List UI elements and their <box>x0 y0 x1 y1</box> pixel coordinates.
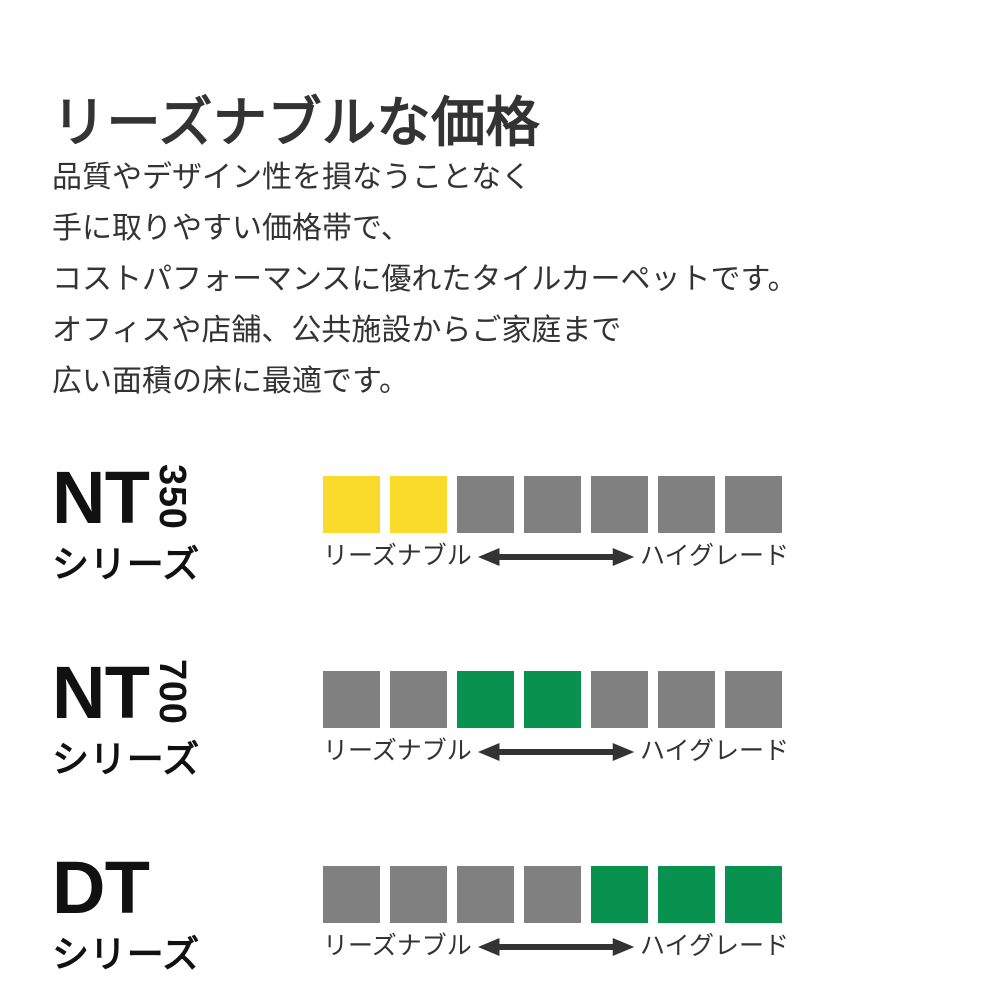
swatch <box>725 671 782 728</box>
description-line: オフィスや店舗、公共施設からご家庭まで <box>52 305 798 356</box>
series-label-nt700: NT 700 シリーズ <box>52 657 292 778</box>
series-suffix: シリーズ <box>52 936 292 973</box>
swatch-strip <box>323 671 793 728</box>
swatch <box>591 866 648 923</box>
series-number: 350 <box>153 464 191 530</box>
series-label-dt: DT シリーズ <box>52 852 292 973</box>
series-code: DT <box>52 852 292 930</box>
double-headed-arrow-icon <box>472 546 640 568</box>
series-suffix: シリーズ <box>52 546 292 583</box>
grade-scale-nt350: リーズナブル ハイグレード <box>323 476 793 569</box>
series-label-nt350: NT 350 シリーズ <box>52 462 292 583</box>
description-line: 広い面積の床に最適です。 <box>52 356 798 407</box>
swatch <box>457 671 514 728</box>
scale-legend: リーズナブル ハイグレード <box>323 739 789 764</box>
swatch <box>457 476 514 533</box>
description-line: 品質やデザイン性を損なうことなく <box>52 152 798 203</box>
swatch <box>457 866 514 923</box>
swatch <box>323 866 380 923</box>
swatch <box>390 671 447 728</box>
scale-low-label: リーズナブル <box>323 544 472 569</box>
description-paragraph: 品質やデザイン性を損なうことなく 手に取りやすい価格帯で、 コストパフォーマンス… <box>52 152 798 407</box>
scale-high-label: ハイグレード <box>640 934 789 959</box>
swatch <box>390 866 447 923</box>
scale-high-label: ハイグレード <box>640 544 789 569</box>
scale-high-label: ハイグレード <box>640 739 789 764</box>
series-alpha: NT <box>52 657 149 730</box>
series-suffix: シリーズ <box>52 741 292 778</box>
grade-scale-dt: リーズナブル ハイグレード <box>323 866 793 959</box>
series-alpha: DT <box>52 852 149 925</box>
swatch-strip <box>323 476 793 533</box>
swatch <box>591 476 648 533</box>
swatch <box>658 476 715 533</box>
scale-legend: リーズナブル ハイグレード <box>323 934 789 959</box>
swatch <box>524 671 581 728</box>
swatch <box>524 476 581 533</box>
swatch <box>323 476 380 533</box>
scale-legend: リーズナブル ハイグレード <box>323 544 789 569</box>
swatch <box>323 671 380 728</box>
swatch <box>390 476 447 533</box>
double-headed-arrow-icon <box>472 741 640 763</box>
page-title: リーズナブルな価格 <box>52 92 540 154</box>
grade-scale-nt700: リーズナブル ハイグレード <box>323 671 793 764</box>
swatch <box>658 866 715 923</box>
swatch-strip <box>323 866 793 923</box>
double-headed-arrow-icon <box>472 936 640 958</box>
scale-low-label: リーズナブル <box>323 934 472 959</box>
swatch <box>524 866 581 923</box>
description-line: コストパフォーマンスに優れたタイルカーペットです。 <box>52 254 798 305</box>
swatch <box>591 671 648 728</box>
series-code: NT 700 <box>52 657 292 735</box>
swatch <box>725 476 782 533</box>
swatch <box>658 671 715 728</box>
series-alpha: NT <box>52 462 149 535</box>
swatch <box>725 866 782 923</box>
description-line: 手に取りやすい価格帯で、 <box>52 203 798 254</box>
series-code: NT 350 <box>52 462 292 540</box>
scale-low-label: リーズナブル <box>323 739 472 764</box>
series-number: 700 <box>153 659 191 725</box>
